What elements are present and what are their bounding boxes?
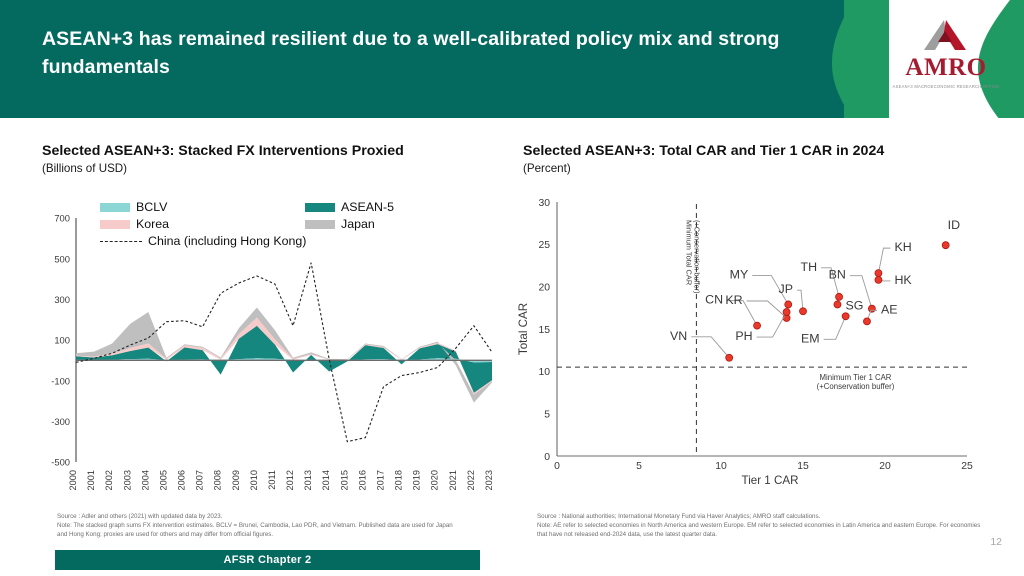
svg-text:(+Conservation buffer): (+Conservation buffer) [692, 220, 701, 294]
svg-text:PH: PH [735, 329, 752, 343]
svg-text:2000: 2000 [68, 470, 78, 490]
svg-text:2001: 2001 [86, 470, 96, 490]
left-chart-plot: -500-300-1001003005007002000200120022003… [30, 200, 500, 500]
svg-text:20: 20 [879, 461, 891, 472]
svg-text:10: 10 [715, 461, 727, 472]
svg-text:2019: 2019 [412, 470, 422, 490]
svg-text:TH: TH [801, 260, 818, 274]
svg-text:(+Conservation buffer): (+Conservation buffer) [817, 382, 895, 391]
svg-text:2002: 2002 [104, 470, 114, 490]
svg-text:MY: MY [730, 267, 749, 281]
svg-text:ID: ID [948, 218, 960, 232]
chapter-banner: AFSR Chapter 2 [55, 550, 480, 570]
svg-text:0: 0 [544, 452, 550, 463]
svg-text:2013: 2013 [303, 470, 313, 490]
svg-text:5: 5 [636, 461, 642, 472]
svg-text:2003: 2003 [122, 470, 132, 490]
svg-text:2005: 2005 [158, 470, 168, 490]
svg-text:2018: 2018 [394, 470, 404, 490]
svg-text:-500: -500 [51, 457, 70, 468]
amro-logo-mark-icon [918, 18, 974, 52]
svg-text:2011: 2011 [267, 470, 277, 490]
left-chart-unit: (Billions of USD) [42, 162, 127, 175]
svg-text:2009: 2009 [231, 470, 241, 490]
svg-text:VN: VN [670, 329, 687, 343]
svg-text:-100: -100 [51, 375, 70, 386]
left-chart-note: Note: The stacked graph sums FX interven… [57, 521, 459, 540]
svg-text:SG: SG [845, 298, 863, 312]
svg-text:2006: 2006 [177, 470, 187, 490]
svg-text:2015: 2015 [339, 470, 349, 490]
svg-text:25: 25 [961, 461, 973, 472]
svg-text:2017: 2017 [375, 470, 385, 490]
page-number: 12 [990, 536, 1002, 548]
svg-text:15: 15 [538, 325, 550, 336]
svg-text:KH: KH [894, 240, 911, 254]
svg-text:20: 20 [538, 282, 550, 293]
amro-logo-subtitle: ASEAN+3 MACROECONOMIC RESEARCH OFFICE [890, 84, 1002, 89]
svg-text:2014: 2014 [321, 470, 331, 490]
slide-root: ASEAN+3 has remained resilient due to a … [0, 0, 1024, 576]
svg-text:HK: HK [894, 273, 912, 287]
left-chart-title: Selected ASEAN+3: Stacked FX Interventio… [42, 143, 404, 159]
svg-text:BN: BN [829, 268, 846, 282]
svg-text:5: 5 [544, 409, 550, 420]
svg-text:700: 700 [54, 213, 70, 224]
right-chart-unit: (Percent) [523, 162, 571, 175]
amro-logo: AMRO ASEAN+3 MACROECONOMIC RESEARCH OFFI… [890, 18, 1002, 100]
svg-text:2023: 2023 [484, 470, 494, 490]
page-title: ASEAN+3 has remained resilient due to a … [42, 26, 782, 81]
svg-text:KR: KR [725, 293, 742, 307]
right-chart-source: Source : National authorities; Internati… [537, 512, 992, 521]
svg-text:CN: CN [705, 293, 723, 307]
left-chart-source: Source : Adler and others (2021) with up… [57, 512, 457, 521]
svg-text:2004: 2004 [140, 470, 150, 490]
svg-text:Minimum Tier 1 CAR: Minimum Tier 1 CAR [820, 373, 892, 382]
slide-header: ASEAN+3 has remained resilient due to a … [0, 0, 1024, 118]
svg-text:2016: 2016 [357, 470, 367, 490]
svg-text:2007: 2007 [195, 470, 205, 490]
svg-text:EM: EM [801, 331, 820, 345]
svg-text:Total CAR: Total CAR [517, 303, 530, 355]
svg-text:30: 30 [538, 198, 550, 209]
right-chart-title: Selected ASEAN+3: Total CAR and Tier 1 C… [523, 143, 884, 159]
svg-text:0: 0 [554, 461, 560, 472]
svg-text:2008: 2008 [213, 470, 223, 490]
svg-text:2010: 2010 [249, 470, 259, 490]
svg-text:AE: AE [881, 302, 898, 316]
svg-text:JP: JP [779, 282, 793, 296]
svg-text:2021: 2021 [448, 470, 458, 490]
svg-text:25: 25 [538, 240, 550, 251]
svg-text:2012: 2012 [285, 470, 295, 490]
svg-text:10: 10 [538, 367, 550, 378]
svg-text:2022: 2022 [466, 470, 476, 490]
right-chart-plot: 0510152025300510152025Tier 1 CARTotal CA… [515, 188, 995, 508]
svg-text:-300: -300 [51, 416, 70, 427]
svg-text:100: 100 [54, 335, 70, 346]
svg-text:Tier 1 CAR: Tier 1 CAR [742, 474, 799, 487]
svg-text:Minimum Total CAR: Minimum Total CAR [684, 220, 693, 285]
svg-text:500: 500 [54, 253, 70, 264]
svg-text:15: 15 [797, 461, 809, 472]
svg-text:2020: 2020 [430, 470, 440, 490]
amro-logo-wordmark: AMRO [890, 54, 1002, 82]
right-chart-note: Note: AE refer to selected economies in … [537, 521, 989, 540]
svg-text:300: 300 [54, 294, 70, 305]
